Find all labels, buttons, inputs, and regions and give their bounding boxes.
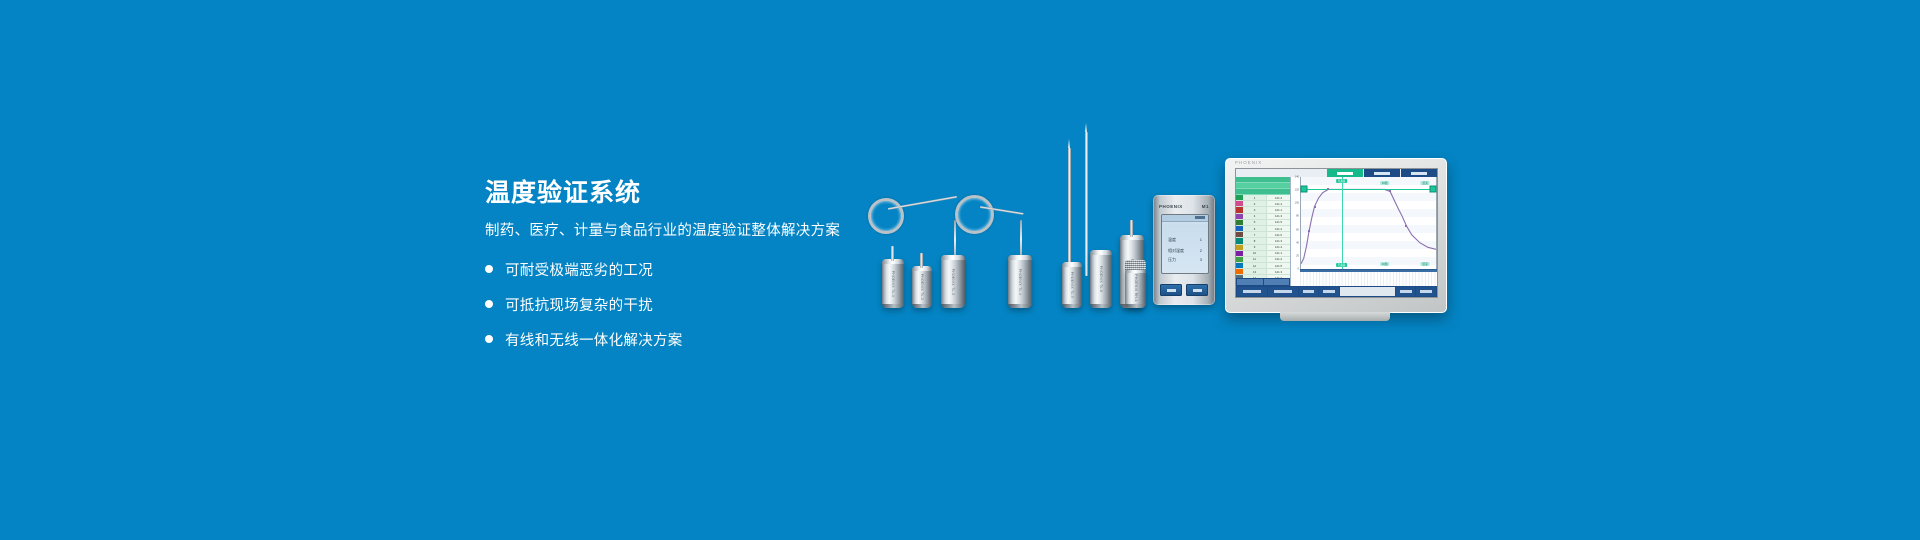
- chart-cursor-line[interactable]: [1342, 177, 1343, 269]
- software-screen: 1121.2 2121.4 3121.1 4121.3 5121.5 6121.…: [1235, 168, 1438, 298]
- list-item: 有线和无线一体化解决方案: [485, 329, 905, 350]
- print-icon: [1374, 172, 1390, 175]
- hero-banner: 温度验证系统 制药、医疗、计量与食品行业的温度验证整体解决方案 可耐受极端恶劣的…: [0, 0, 1920, 540]
- channel-color-swatch: [1236, 232, 1243, 237]
- probe-stub: [1130, 220, 1133, 237]
- handheld-menu-row[interactable]: 压力 3: [1168, 257, 1202, 263]
- logger-label: PHOENIX TL-2: [920, 274, 924, 301]
- monitor-display: PHOENIX 1121.2 2121.4 312: [1225, 158, 1447, 313]
- start-icon: [1337, 172, 1353, 175]
- footer-button-acquire[interactable]: [1237, 287, 1267, 296]
- limit-marker-left-icon: [1300, 186, 1307, 193]
- toolbar-export-button[interactable]: [1401, 169, 1437, 177]
- data-logger: PHOENIX TL-6: [1090, 250, 1112, 308]
- cell-channel: 9: [1243, 245, 1266, 250]
- cell-channel: 13: [1243, 269, 1266, 274]
- axis-tick-label: 20: [1296, 254, 1299, 257]
- cell-value: 121.5: [1266, 263, 1290, 268]
- cell-channel: 10: [1243, 251, 1266, 256]
- table-body[interactable]: 1121.2 2121.4 3121.1 4121.3 5121.5 6121.…: [1236, 195, 1290, 278]
- button-glyph-icon: [1193, 289, 1202, 292]
- footer-button-settings[interactable]: [1268, 287, 1298, 296]
- cell-channel: 4: [1243, 214, 1266, 219]
- cell-channel: 2: [1243, 201, 1266, 206]
- help-icon: [1400, 290, 1412, 293]
- bullet-dot-icon: [485, 265, 493, 273]
- chart-data-point: [1314, 206, 1316, 208]
- chart-plot-wrapper: 020406080100120140 灭菌段 灭菌段: [1291, 177, 1437, 269]
- handheld-reader[interactable]: PHOENIX M1 温度 1 相对湿度 2 压力 3: [1153, 195, 1215, 305]
- feature-label: 有线和无线一体化解决方案: [505, 329, 683, 350]
- cell-channel: 5: [1243, 220, 1266, 225]
- table-footer-buttons: [1236, 278, 1290, 286]
- channel-color-swatch: [1236, 201, 1243, 206]
- logger-label: PHOENIX TL-4: [1018, 268, 1022, 295]
- cell-value: 121.2: [1266, 195, 1290, 200]
- channel-color-swatch: [1236, 195, 1243, 200]
- axis-tick-label: 40: [1296, 241, 1299, 244]
- monitor-stand: [1280, 312, 1390, 321]
- bullet-dot-icon: [485, 335, 493, 343]
- handheld-back-button[interactable]: [1186, 284, 1208, 296]
- cell-value: 121.0: [1266, 232, 1290, 237]
- axis-tick-label: 60: [1296, 228, 1299, 231]
- handheld-button-row: [1160, 284, 1208, 296]
- axis-tick-label: 100: [1295, 202, 1299, 205]
- footer-button-report[interactable]: [1299, 287, 1319, 296]
- cell-value: 121.3: [1266, 269, 1290, 274]
- handheld-menu-row[interactable]: 温度 1: [1168, 237, 1202, 243]
- handheld-row-value: 2: [1200, 248, 1202, 254]
- channel-color-swatch: [1236, 251, 1243, 256]
- handheld-row-label: 相对湿度: [1168, 248, 1184, 254]
- handheld-row-value: 1: [1200, 237, 1202, 243]
- cell-channel: 11: [1243, 257, 1266, 262]
- print-icon: [1323, 290, 1335, 293]
- toolbar-print-button[interactable]: [1364, 169, 1400, 177]
- handheld-brand-label: PHOENIX: [1159, 204, 1183, 209]
- channel-color-swatch: [1236, 269, 1243, 274]
- product-photo-group: PHOENIX TL-1 PHOENIX TL-2 PHOENIX TL-3 P…: [880, 120, 1280, 320]
- chart-annotation-end: 结束: [1421, 181, 1430, 185]
- cell-value: 121.5: [1266, 220, 1290, 225]
- channel-data-table: 1121.2 2121.4 3121.1 4121.3 5121.5 6121.…: [1236, 177, 1291, 286]
- handheld-brand-row: PHOENIX M1: [1159, 202, 1209, 211]
- footer-button-print[interactable]: [1319, 287, 1339, 296]
- axis-tick-label: 120: [1295, 189, 1299, 192]
- cell-value: 121.3: [1266, 238, 1290, 243]
- export-icon: [1411, 172, 1427, 175]
- software-body: 1121.2 2121.4 3121.1 4121.3 5121.5 6121.…: [1236, 177, 1437, 286]
- handheld-menu-row[interactable]: 相对湿度 2: [1168, 248, 1202, 254]
- chart-data-point: [1389, 190, 1391, 192]
- logger-label: PHOENIX TL-3: [951, 268, 955, 295]
- select-all-button[interactable]: [1237, 279, 1263, 285]
- software-footer-buttons: [1236, 286, 1437, 297]
- channel-color-swatch: [1236, 238, 1243, 243]
- list-item: 可耐受极端恶劣的工况: [485, 259, 905, 280]
- handheld-screen: 温度 1 相对湿度 2 压力 3: [1161, 214, 1209, 274]
- feature-label: 可耐受极端恶劣的工况: [505, 259, 653, 280]
- channel-color-swatch: [1236, 226, 1243, 231]
- cell-value: 121.4: [1266, 201, 1290, 206]
- footer-button-exit[interactable]: [1416, 287, 1436, 296]
- chart-cursor-tag-top: 灭菌段: [1336, 179, 1348, 183]
- acquire-icon: [1243, 290, 1261, 293]
- cell-value: 121.3: [1266, 214, 1290, 219]
- handheld-status-bar: [1162, 215, 1208, 222]
- feature-bullet-list: 可耐受极端恶劣的工况 可抵抗现场复杂的干扰 有线和无线一体化解决方案: [485, 259, 905, 350]
- handheld-model-label: M1: [1202, 204, 1209, 209]
- settings-icon: [1274, 290, 1292, 293]
- axis-tick-label: 140: [1295, 176, 1299, 179]
- channel-color-swatch: [1236, 263, 1243, 268]
- monitor-brand-label: PHOENIX: [1235, 160, 1262, 165]
- feature-label: 可抵抗现场复杂的干扰: [505, 294, 653, 315]
- logger-label: PHOENIX RH-1: [1134, 274, 1138, 301]
- footer-spacer: [1340, 287, 1395, 296]
- chart-data-point: [1327, 188, 1329, 190]
- button-glyph-icon: [1167, 289, 1176, 292]
- page-subtitle: 制药、医疗、计量与食品行业的温度验证整体解决方案: [485, 222, 905, 241]
- chart-annotation-end-bottom: 结束: [1421, 262, 1430, 266]
- axis-tick-label: 0: [1298, 268, 1299, 271]
- cell-value: 121.2: [1266, 226, 1290, 231]
- cell-channel: 3: [1243, 207, 1266, 212]
- temperature-chart: 020406080100120140 灭菌段 灭菌段: [1291, 177, 1437, 286]
- cell-value: 121.2: [1266, 257, 1290, 262]
- software-toolbar: [1236, 169, 1437, 177]
- probe-stub: [891, 246, 894, 261]
- channel-color-swatch: [1236, 245, 1243, 250]
- humidity-logger: PHOENIX RH-1: [1125, 268, 1146, 308]
- cell-channel: 7: [1243, 232, 1266, 237]
- limit-marker-right-icon: [1430, 186, 1437, 193]
- cell-value: 121.4: [1266, 245, 1290, 250]
- battery-icon: [1195, 216, 1205, 219]
- cell-channel: 8: [1243, 238, 1266, 243]
- cell-channel: 12: [1243, 263, 1266, 268]
- data-logger: PHOENIX TL-4: [1008, 255, 1032, 308]
- handheld-row-value: 3: [1200, 257, 1202, 263]
- chart-data-point: [1308, 230, 1310, 232]
- handheld-row-label: 温度: [1168, 237, 1176, 243]
- bullet-dot-icon: [485, 300, 493, 308]
- chart-annotation-f0: F0值: [1380, 181, 1390, 185]
- chart-cursor-tag-bottom: 灭菌段: [1336, 263, 1348, 267]
- exit-icon: [1420, 290, 1432, 293]
- channel-color-swatch: [1236, 207, 1243, 212]
- axis-tick-label: 80: [1296, 215, 1299, 218]
- clear-button[interactable]: [1264, 279, 1290, 285]
- chart-plot-area: 灭菌段 灭菌段 F0值 结束 F0值 结束: [1301, 177, 1437, 269]
- list-item: 可抵抗现场复杂的干扰: [485, 294, 905, 315]
- hero-text-block: 温度验证系统 制药、医疗、计量与食品行业的温度验证整体解决方案 可耐受极端恶劣的…: [485, 178, 905, 364]
- data-logger: PHOENIX TL-1: [882, 259, 904, 308]
- humidity-sensor-cap-icon: [1125, 260, 1146, 270]
- toolbar-start-button[interactable]: [1327, 169, 1363, 177]
- page-title: 温度验证系统: [485, 178, 905, 208]
- cell-channel: 1: [1243, 195, 1266, 200]
- needle-probe-icon: [1068, 148, 1071, 276]
- handheld-row-label: 压力: [1168, 257, 1176, 263]
- channel-color-swatch: [1236, 214, 1243, 219]
- probe-stub: [920, 253, 923, 268]
- channel-color-swatch: [1236, 220, 1243, 225]
- chart-annotation-f0-bottom: F0值: [1380, 262, 1390, 266]
- handheld-confirm-button[interactable]: [1160, 284, 1182, 296]
- probe-coil-icon: [868, 198, 904, 234]
- chart-data-point: [1405, 225, 1407, 227]
- data-logger: PHOENIX TL-3: [941, 255, 965, 308]
- logger-label: PHOENIX TL-1: [891, 270, 895, 297]
- cell-channel: 6: [1243, 226, 1266, 231]
- needle-probe-icon: [1085, 132, 1088, 276]
- footer-button-help[interactable]: [1396, 287, 1416, 296]
- logger-label: PHOENIX TL-6: [1099, 266, 1103, 293]
- data-logger: PHOENIX TL-5: [1062, 262, 1082, 308]
- probe-coil-icon: [955, 195, 994, 234]
- cell-value: 121.1: [1266, 207, 1290, 212]
- cell-value: 121.1: [1266, 251, 1290, 256]
- chart-series-svg: [1301, 177, 1436, 269]
- chart-x-axis: [1300, 269, 1437, 286]
- logger-label: PHOENIX TL-5: [1070, 272, 1074, 299]
- data-logger: PHOENIX TL-2: [912, 266, 932, 308]
- chart-limit-line: [1301, 189, 1436, 190]
- channel-color-swatch: [1236, 257, 1243, 262]
- report-icon: [1303, 290, 1315, 293]
